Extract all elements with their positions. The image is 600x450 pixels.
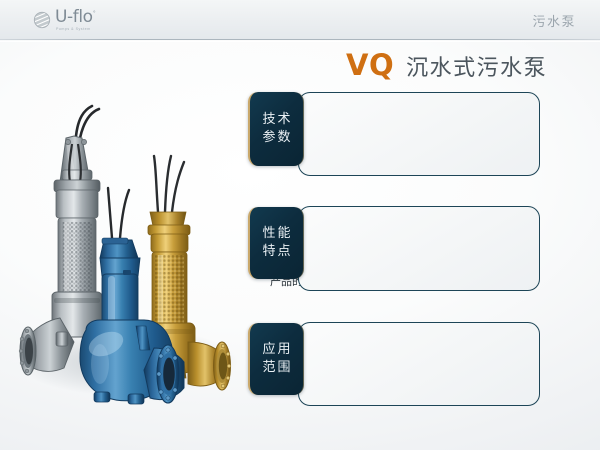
tab-features[interactable]: 性能 特点 — [248, 207, 304, 279]
power-cable — [76, 106, 99, 138]
header-divider — [0, 39, 600, 40]
info-block-features: 性能 特点 意大利原装进口污水泵 配备IE3高效电机 8种型式的叶轮 产品的材质… — [248, 206, 540, 291]
motor-housing — [56, 190, 98, 218]
header-category-label: 污水泵 — [532, 11, 576, 30]
outlet-flange — [157, 345, 179, 403]
cooling-jacket — [58, 218, 96, 296]
specifications-panel — [298, 92, 540, 176]
outlet-flange — [214, 342, 231, 390]
tab-applications[interactable]: 应用 范围 — [248, 323, 304, 395]
logo-tagline: Pumps & System — [56, 28, 95, 32]
features-panel — [298, 206, 540, 291]
power-cable — [108, 188, 129, 238]
three-submersible-pumps-image — [8, 62, 244, 414]
tab-specifications[interactable]: 技术 参数 — [248, 92, 304, 166]
tab-label-line1: 技术 — [260, 113, 292, 127]
power-cable — [154, 156, 184, 212]
tab-label-line2: 参数 — [260, 131, 292, 145]
page-title: VQ 沉水式污水泵 — [346, 48, 547, 82]
tab-label-line1: 应用 — [260, 343, 292, 357]
info-block-specifications: 技术 参数 流量Q：可达5580m3/h 功率P：可达350kW 扬程H：可达7… — [248, 92, 540, 176]
tab-label-line1: 性能 — [260, 227, 292, 241]
header-divider-highlight — [0, 41, 600, 42]
logo-text: U-flo Pumps & System — [55, 9, 95, 31]
motor-housing — [151, 234, 188, 252]
brand-logo[interactable]: U-flo Pumps & System — [33, 9, 95, 31]
junction-box — [150, 212, 186, 226]
logo-wordmark: U-flo — [55, 9, 95, 26]
tab-label-line2: 特点 — [260, 245, 292, 259]
info-block-applications: 应用 范围 污水输送/排放 泵站排水 海绵城市 输送工业废水 城市防洪水排放 — [248, 322, 540, 406]
product-slide: U-flo Pumps & System 污水泵 VQ 沉水式污水泵 技术 参数… — [0, 0, 600, 450]
striped-globe-icon — [33, 11, 51, 29]
cooling-jacket — [152, 252, 187, 328]
tab-label-line2: 范围 — [260, 361, 292, 375]
product-name: 沉水式污水泵 — [406, 50, 547, 82]
lifting-handle — [60, 136, 92, 182]
product-code: VQ — [346, 48, 394, 82]
applications-panel — [298, 322, 540, 406]
